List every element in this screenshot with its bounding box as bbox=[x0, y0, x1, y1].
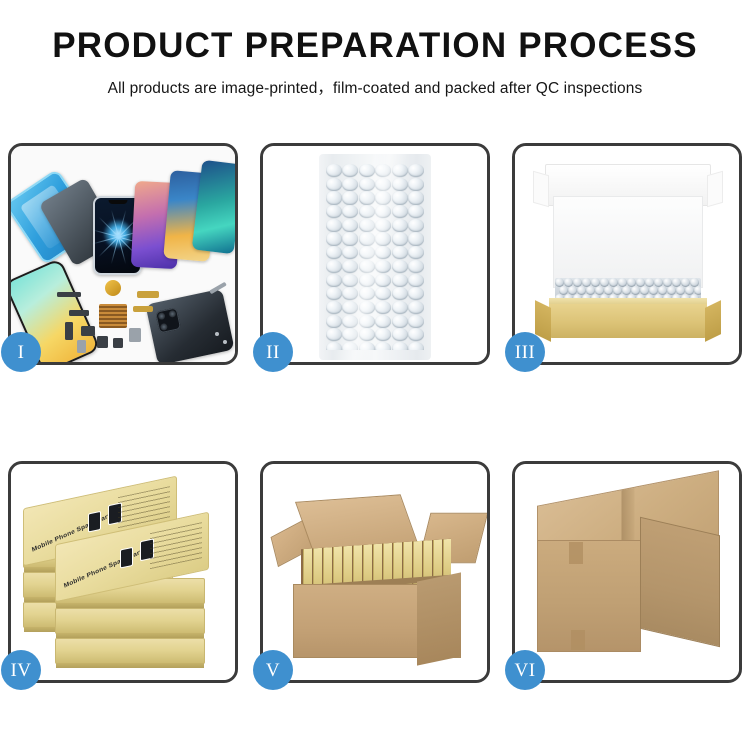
bubble bbox=[342, 301, 358, 314]
bubble bbox=[375, 287, 391, 300]
screw-part bbox=[223, 340, 227, 344]
speaker-part bbox=[97, 336, 108, 348]
sim-tray-part bbox=[77, 340, 86, 353]
vibration-coil-part bbox=[105, 280, 121, 296]
bubble bbox=[359, 274, 375, 287]
step-panel-5: V bbox=[260, 461, 490, 683]
bubble bbox=[342, 164, 358, 177]
bubble bbox=[326, 178, 342, 191]
step-badge-1: I bbox=[1, 332, 41, 372]
bubble bbox=[392, 164, 408, 177]
bubble bbox=[342, 205, 358, 218]
bubble bbox=[392, 301, 408, 314]
box-screen-image bbox=[88, 511, 101, 533]
bubble bbox=[359, 191, 375, 204]
step-image-6 bbox=[515, 464, 739, 680]
carton-right-face bbox=[640, 517, 720, 647]
screw-part bbox=[215, 332, 219, 336]
step-image-5 bbox=[263, 464, 487, 680]
chip-array-part bbox=[99, 304, 127, 328]
bubble bbox=[359, 232, 375, 245]
bubble bbox=[408, 178, 424, 191]
bracket-part bbox=[65, 322, 73, 340]
bubble bbox=[375, 274, 391, 287]
bubble bbox=[326, 328, 342, 341]
bubble bbox=[375, 191, 391, 204]
bubble bbox=[408, 260, 424, 273]
bubble bbox=[408, 342, 424, 350]
bubble bbox=[375, 219, 391, 232]
bubble bbox=[359, 342, 375, 350]
step-badge-3: III bbox=[505, 332, 545, 372]
bubble bbox=[408, 219, 424, 232]
bubble bbox=[326, 315, 342, 328]
step-badge-4: IV bbox=[1, 650, 41, 690]
box-inner-wall bbox=[553, 196, 703, 288]
bubble bbox=[392, 191, 408, 204]
bubble bbox=[392, 328, 408, 341]
bubble bbox=[359, 178, 375, 191]
step-badge-5: V bbox=[253, 650, 293, 690]
bubble bbox=[342, 246, 358, 259]
page-title: PRODUCT PREPARATION PROCESS bbox=[0, 28, 750, 65]
bubble bbox=[326, 260, 342, 273]
bubble bbox=[375, 164, 391, 177]
step-panel-6: VI bbox=[512, 461, 742, 683]
bubble bbox=[359, 219, 375, 232]
stacked-box bbox=[55, 638, 205, 664]
step-image-1 bbox=[11, 146, 235, 362]
bubble bbox=[392, 342, 408, 350]
ribbon-part bbox=[69, 310, 89, 316]
bubble-grid bbox=[326, 164, 424, 350]
box-front-panel bbox=[549, 304, 707, 338]
bubble bbox=[359, 315, 375, 328]
bubble bbox=[408, 164, 424, 177]
bubble bbox=[359, 246, 375, 259]
bubble bbox=[342, 191, 358, 204]
bubble bbox=[408, 191, 424, 204]
bubble bbox=[408, 301, 424, 314]
bubble bbox=[326, 274, 342, 287]
bubble bbox=[359, 260, 375, 273]
bubble bbox=[326, 246, 342, 259]
bubble bbox=[392, 274, 408, 287]
step-badge-6: VI bbox=[505, 650, 545, 690]
bubble bbox=[392, 178, 408, 191]
bubble bbox=[375, 328, 391, 341]
bubble bbox=[359, 205, 375, 218]
bubble bbox=[359, 328, 375, 341]
bubble bbox=[408, 328, 424, 341]
connector-part bbox=[137, 291, 159, 298]
bubble bbox=[375, 205, 391, 218]
bubble bbox=[408, 315, 424, 328]
shield-part bbox=[81, 326, 95, 336]
bubble bbox=[392, 315, 408, 328]
steps-grid: I II III bbox=[8, 143, 742, 688]
bubble bbox=[342, 219, 358, 232]
bubble bbox=[326, 219, 342, 232]
bubble bbox=[326, 205, 342, 218]
bubble bbox=[408, 205, 424, 218]
bubble bbox=[326, 191, 342, 204]
sealed-shipping-carton bbox=[531, 488, 727, 664]
bubble bbox=[326, 164, 342, 177]
box-brand-text: Mobile Phone Spare Parts bbox=[63, 547, 146, 590]
bubble bbox=[408, 274, 424, 287]
bubble bbox=[342, 274, 358, 287]
box-screen-image bbox=[120, 547, 133, 569]
tape-strip-lower bbox=[571, 630, 585, 650]
bubble bbox=[375, 342, 391, 350]
step-panel-4: Mobile Phone Spare Parts Mobile Phone Sp… bbox=[8, 461, 238, 683]
open-inner-box bbox=[533, 160, 723, 350]
bubble bbox=[375, 178, 391, 191]
box-stack: Mobile Phone Spare Parts Mobile Phone Sp… bbox=[19, 482, 233, 672]
bubble bbox=[392, 219, 408, 232]
bubble bbox=[392, 232, 408, 245]
bubble bbox=[408, 287, 424, 300]
step-panel-1: I bbox=[8, 143, 238, 365]
bubble bbox=[375, 301, 391, 314]
bubble bbox=[392, 287, 408, 300]
bubble bbox=[326, 287, 342, 300]
box-spec-lines bbox=[150, 522, 202, 569]
infographic-page: PRODUCT PREPARATION PROCESS All products… bbox=[0, 0, 750, 750]
tweezers-tool bbox=[209, 282, 227, 294]
stacked-box bbox=[55, 608, 205, 634]
bubble bbox=[359, 301, 375, 314]
bubble bbox=[326, 232, 342, 245]
step-panel-3: III bbox=[512, 143, 742, 365]
battery-connector-part bbox=[129, 328, 141, 342]
bubble bbox=[408, 246, 424, 259]
step-image-2 bbox=[263, 146, 487, 362]
bubble bbox=[342, 315, 358, 328]
step-image-4: Mobile Phone Spare Parts Mobile Phone Sp… bbox=[11, 464, 235, 680]
bubble bbox=[342, 178, 358, 191]
bubble-wrap-bag bbox=[319, 154, 431, 360]
step-badge-2: II bbox=[253, 332, 293, 372]
bubble bbox=[342, 260, 358, 273]
bubble bbox=[392, 205, 408, 218]
antenna-cable-part bbox=[133, 306, 153, 312]
flex-cable-part bbox=[57, 292, 81, 297]
header: PRODUCT PREPARATION PROCESS All products… bbox=[0, 0, 750, 98]
bubble bbox=[375, 232, 391, 245]
carton-left-face bbox=[537, 540, 641, 652]
button-part bbox=[113, 338, 123, 348]
bubble bbox=[359, 287, 375, 300]
page-subtitle: All products are image-printed，film-coat… bbox=[0, 76, 750, 98]
tape-strip-upper bbox=[569, 542, 583, 564]
bubble bbox=[342, 287, 358, 300]
step-image-3 bbox=[515, 146, 739, 362]
bubble bbox=[375, 315, 391, 328]
bubble bbox=[342, 342, 358, 350]
bubble bbox=[326, 301, 342, 314]
step-panel-2: II bbox=[260, 143, 490, 365]
bubble bbox=[342, 232, 358, 245]
bubble bbox=[408, 232, 424, 245]
bubble bbox=[359, 164, 375, 177]
bubble bbox=[326, 342, 342, 350]
spare-parts-group bbox=[11, 146, 235, 362]
bubble bbox=[392, 260, 408, 273]
carton-body bbox=[293, 584, 461, 658]
bubble bbox=[342, 328, 358, 341]
open-shipping-carton bbox=[277, 486, 477, 666]
bubble bbox=[392, 246, 408, 259]
bubble bbox=[375, 246, 391, 259]
bubble bbox=[375, 260, 391, 273]
